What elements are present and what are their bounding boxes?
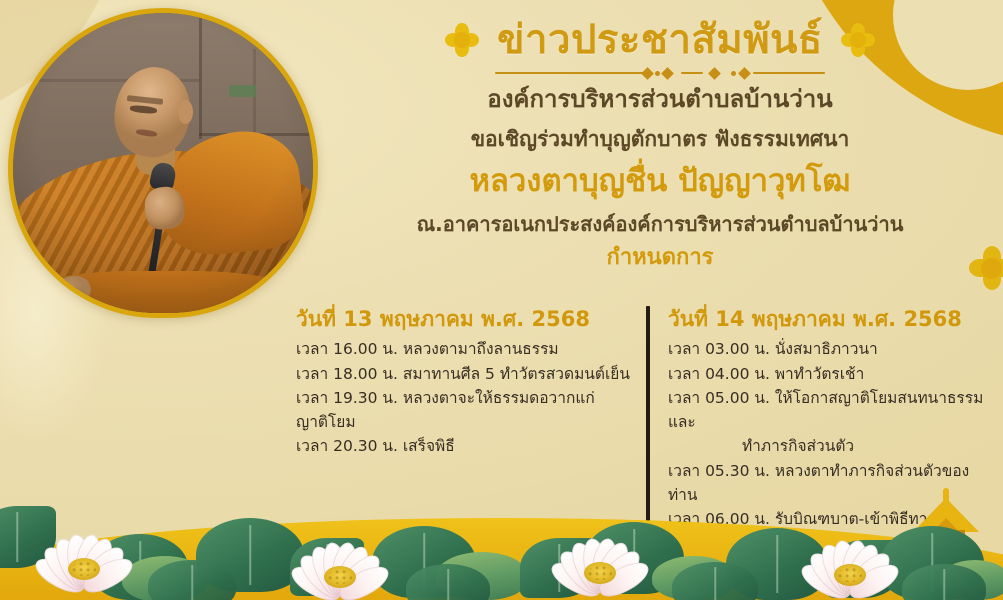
- schedule-column-day1: วันที่ 13 พฤษภาคม พ.ศ. 2568 เวลา 16.00 น…: [296, 306, 646, 460]
- title-row: ข่าวประชาสัมพันธ์: [330, 18, 990, 63]
- schedule-item: เวลา 05.00 น. ให้โอกาสญาติโยมสนทนาธรรมแล…: [668, 387, 990, 434]
- organization-name: องค์การบริหารส่วนตำบลบ้านว่าน: [330, 84, 990, 115]
- monk-portrait-photo: [8, 8, 318, 318]
- schedule-item: เวลา 18.00 น. สมาทานศีล 5 ทำวัตรสวดมนต์เ…: [296, 363, 632, 387]
- quatrefoil-icon-right: [841, 23, 875, 57]
- monk-name: หลวงตาบุญชื่น ปัญญาวุทโฒ: [330, 162, 990, 201]
- schedule-item: เวลา 16.00 น. หลวงตามาถึงลานธรรม: [296, 338, 632, 362]
- lotus-bottom-border: [0, 482, 1003, 600]
- headline-block: ข่าวประชาสัมพันธ์ องค์การบริหารส่วนตำบลบ…: [330, 18, 990, 272]
- day2-heading: วันที่ 14 พฤษภาคม พ.ศ. 2568: [668, 306, 990, 332]
- lotus-flower-icon: [26, 504, 142, 596]
- day1-heading: วันที่ 13 พฤษภาคม พ.ศ. 2568: [296, 306, 632, 332]
- schedule-item: เวลา 03.00 น. นั่งสมาธิภาวนา: [668, 338, 990, 362]
- agenda-label: กำหนดการ: [330, 244, 990, 272]
- photo-vignette: [13, 13, 313, 313]
- page-title: ข่าวประชาสัมพันธ์: [497, 18, 823, 63]
- lotus-flower-icon: [542, 508, 658, 600]
- schedule-item: เวลา 04.00 น. พาทำวัตรเช้า: [668, 363, 990, 387]
- quatrefoil-icon-edge-right: [969, 246, 1003, 292]
- ornamental-divider: [495, 66, 825, 80]
- invitation-line: ขอเชิญร่วมทำบุญตักบาตร ฟังธรรมเทศนา: [330, 126, 990, 153]
- lotus-flower-icon: [792, 510, 908, 600]
- photo-inner: [13, 13, 313, 313]
- venue-line: ณ.อาคารอเนกประสงค์องค์การบริหารส่วนตำบลบ…: [330, 211, 990, 237]
- quatrefoil-icon-left: [445, 23, 479, 57]
- lotus-flower-icon: [282, 512, 398, 600]
- schedule-item: เวลา 20.30 น. เสร็จพิธี: [296, 435, 632, 459]
- schedule-item: เวลา 19.30 น. หลวงตาจะให้ธรรมดอวากแก่ญาต…: [296, 387, 632, 434]
- schedule-item-continuation: ทำภารกิจส่วนตัว: [668, 435, 990, 459]
- poster-canvas: ข่าวประชาสัมพันธ์ องค์การบริหารส่วนตำบลบ…: [0, 0, 1003, 600]
